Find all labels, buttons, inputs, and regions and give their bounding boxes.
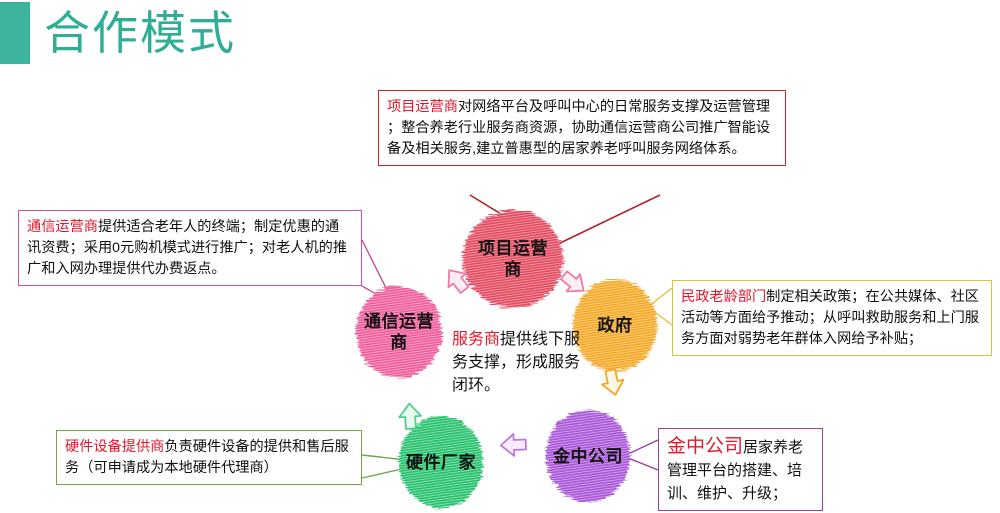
callout-jinzhong-company: 金中公司居家养老管理平台的搭建、培训、维护、升级；: [658, 428, 823, 511]
node-label-jinzhong-company: 金中公司: [538, 446, 638, 467]
callout-hardware-supplier: 硬件设备提供商负责硬件设备的提供和售后服务（可申请成为本地硬件代理商）: [56, 430, 362, 485]
connector-telecom-operator: [362, 240, 392, 302]
node-label-government: 政府: [573, 315, 657, 336]
center-caption: 服务商提供线下服务支撑，形成服务闭环。: [452, 328, 582, 397]
arrow-jinzhong-to-hardware: [500, 434, 526, 457]
callout-highlight-jinzhong-company: 金中公司: [667, 436, 743, 457]
node-label-project-operator: 项目运营 商: [463, 238, 563, 280]
callout-highlight-hardware-supplier: 硬件设备提供商: [65, 439, 164, 455]
callout-civil-affairs: 民政老龄部门制定相关政策；在公共媒体、社区活动等方面给予推动；从呼叫救助服务和上…: [672, 280, 992, 356]
node-label-hardware-maker: 硬件厂家: [391, 452, 491, 473]
node-label-telecom-operator: 通信运营 商: [349, 311, 449, 353]
title-bar: 合作模式: [0, 0, 1000, 70]
arrow-government-to-jinzhong: [599, 368, 626, 397]
callout-telecom-operator: 通信运营商提供适合老年人的终端；制定优惠的通讯资费；采用0元购机模式进行推广；对…: [18, 210, 362, 286]
callout-highlight-telecom-operator: 通信运营商: [27, 219, 98, 235]
callout-project-operator: 项目运营商对网络平台及呼叫中心的日常服务支撑及运营管理 ；整合养老行业服务商资源…: [378, 90, 786, 166]
callout-highlight-civil-affairs: 民政老龄部门: [681, 289, 766, 305]
page-title: 合作模式: [44, 0, 236, 68]
callout-highlight-project-operator: 项目运营商: [387, 99, 458, 115]
arrow-hardware-to-telecom: [398, 403, 422, 429]
center-caption-highlight: 服务商: [452, 331, 500, 348]
title-accent-bar: [0, 2, 30, 64]
